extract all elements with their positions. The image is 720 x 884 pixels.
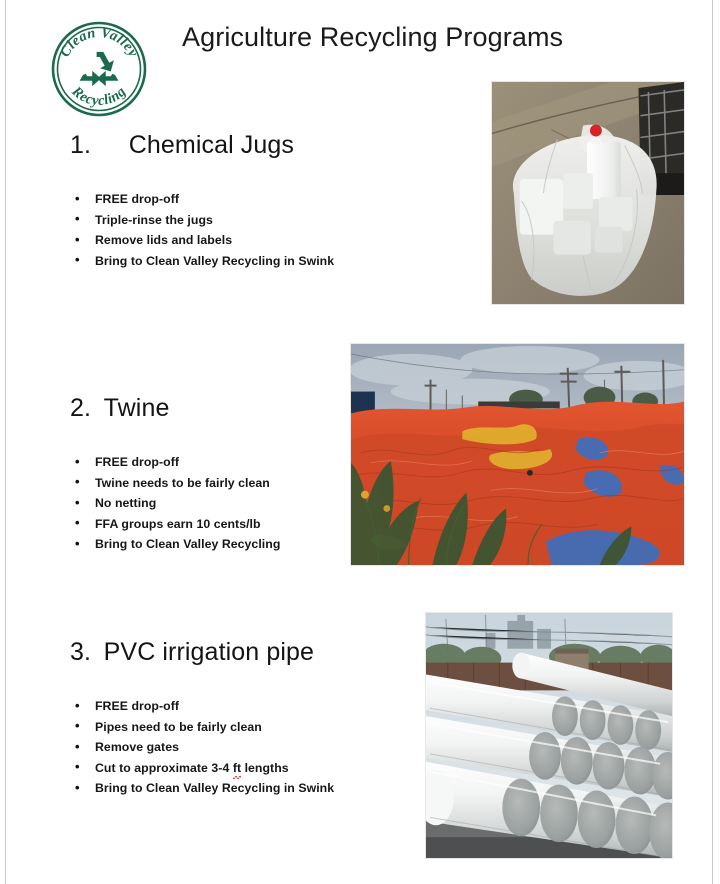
list-item: FREE drop-off <box>73 696 334 717</box>
list-item: FREE drop-off <box>73 452 280 473</box>
page-title: Agriculture Recycling Programs <box>182 22 563 53</box>
spellcheck-word: ft <box>233 758 241 779</box>
clean-valley-recycling-logo: Clean Valley Recycling <box>49 19 149 119</box>
list-item: Remove lids and labels <box>73 230 334 251</box>
list-item: Twine needs to be fairly clean <box>73 473 280 494</box>
page-right-border <box>712 0 713 884</box>
list-item: Cut to approximate 3-4 ft lengths <box>73 758 334 779</box>
list-item: Pipes need to be fairly clean <box>73 717 334 738</box>
list-item: Remove gates <box>73 737 334 758</box>
list-item: No netting <box>73 493 280 514</box>
section-heading-2: 2. Twine <box>70 394 169 423</box>
bullet-list-1: FREE drop-off Triple-rinse the jugs Remo… <box>73 189 334 271</box>
list-item: Triple-rinse the jugs <box>73 210 334 231</box>
page-left-border <box>5 0 6 884</box>
section-heading-3: 3. PVC irrigation pipe <box>70 638 314 667</box>
pvc-pipe-stack-photo <box>425 612 673 859</box>
bullet-text-prefix: Cut to approximate 3-4 <box>95 761 233 775</box>
chemical-jugs-photo <box>491 81 685 305</box>
section-heading-1: 1. Chemical Jugs <box>70 131 294 160</box>
bullet-list-3: FREE drop-off Pipes need to be fairly cl… <box>73 696 334 799</box>
list-item: FREE drop-off <box>73 189 334 210</box>
list-item: Bring to Clean Valley Recycling in Swink <box>73 778 334 799</box>
bullet-text-suffix: lengths <box>241 761 289 775</box>
twine-pile-photo <box>350 343 685 566</box>
document-page: Clean Valley Recycling Agriculture Recyc… <box>0 0 720 884</box>
list-item: Bring to Clean Valley Recycling in Swink <box>73 251 334 272</box>
list-item: FFA groups earn 10 cents/lb <box>73 514 280 535</box>
bullet-list-2: FREE drop-off Twine needs to be fairly c… <box>73 452 280 555</box>
list-item: Bring to Clean Valley Recycling <box>73 534 280 555</box>
